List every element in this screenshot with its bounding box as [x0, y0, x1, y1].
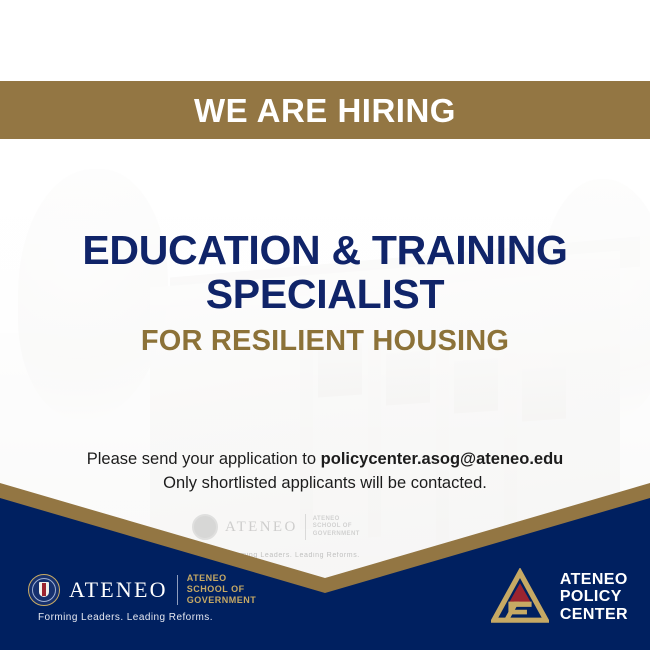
watermark-seal-icon	[192, 514, 218, 540]
hiring-banner: WE ARE HIRING	[0, 81, 650, 139]
application-line: Please send your application to policyce…	[0, 447, 650, 471]
apc-line-2: POLICY	[560, 588, 628, 606]
asg-unit-line-3: GOVERNMENT	[187, 595, 257, 606]
watermark-unit: ATENEO SCHOOL OF GOVERNMENT	[313, 516, 360, 539]
job-title: EDUCATION & TRAINING SPECIALIST	[0, 228, 650, 316]
headline-block: EDUCATION & TRAINING SPECIALIST FOR RESI…	[0, 228, 650, 357]
seal-bar	[42, 583, 46, 596]
application-note: Only shortlisted applicants will be cont…	[0, 471, 650, 495]
application-instructions: Please send your application to policyce…	[0, 447, 650, 495]
asg-unit-line-2: SCHOOL OF	[187, 584, 257, 595]
asg-unit-name: ATENEO SCHOOL OF GOVERNMENT	[187, 573, 257, 606]
logo-divider	[177, 575, 178, 605]
hiring-banner-text: WE ARE HIRING	[194, 94, 456, 127]
watermark-unit-line-3: GOVERNMENT	[313, 531, 360, 539]
watermark-unit-line-2: SCHOOL OF	[313, 523, 360, 531]
job-subtitle: FOR RESILIENT HOUSING	[0, 325, 650, 357]
apc-logo-lockup: ATENEO POLICY CENTER	[491, 568, 628, 626]
job-posting-poster: ATENEO ATENEO SCHOOL OF GOVERNMENT Formi…	[0, 0, 650, 650]
ateneo-wordmark: ATENEO	[69, 579, 168, 601]
application-instruction-text: Please send your application to	[87, 450, 321, 468]
watermark-unit-line-1: ATENEO	[313, 516, 360, 524]
application-email[interactable]: policycenter.asog@ateneo.edu	[321, 450, 564, 468]
asg-logo-lockup: ATENEO ATENEO SCHOOL OF GOVERNMENT Formi…	[28, 573, 256, 623]
asg-logo-row: ATENEO ATENEO SCHOOL OF GOVERNMENT	[28, 573, 256, 606]
ateneo-seal-icon	[28, 574, 60, 606]
apc-line-1: ATENEO	[560, 571, 628, 589]
watermark-asg-logo: ATENEO ATENEO SCHOOL OF GOVERNMENT	[192, 498, 462, 556]
apc-line-3: CENTER	[560, 606, 628, 624]
watermark-divider	[305, 514, 306, 540]
asg-unit-line-1: ATENEO	[187, 573, 257, 584]
apc-triangle-icon	[491, 568, 549, 626]
watermark-wordmark: ATENEO	[225, 519, 298, 536]
apc-name: ATENEO POLICY CENTER	[560, 571, 628, 624]
asg-tagline: Forming Leaders. Leading Reforms.	[28, 612, 256, 623]
